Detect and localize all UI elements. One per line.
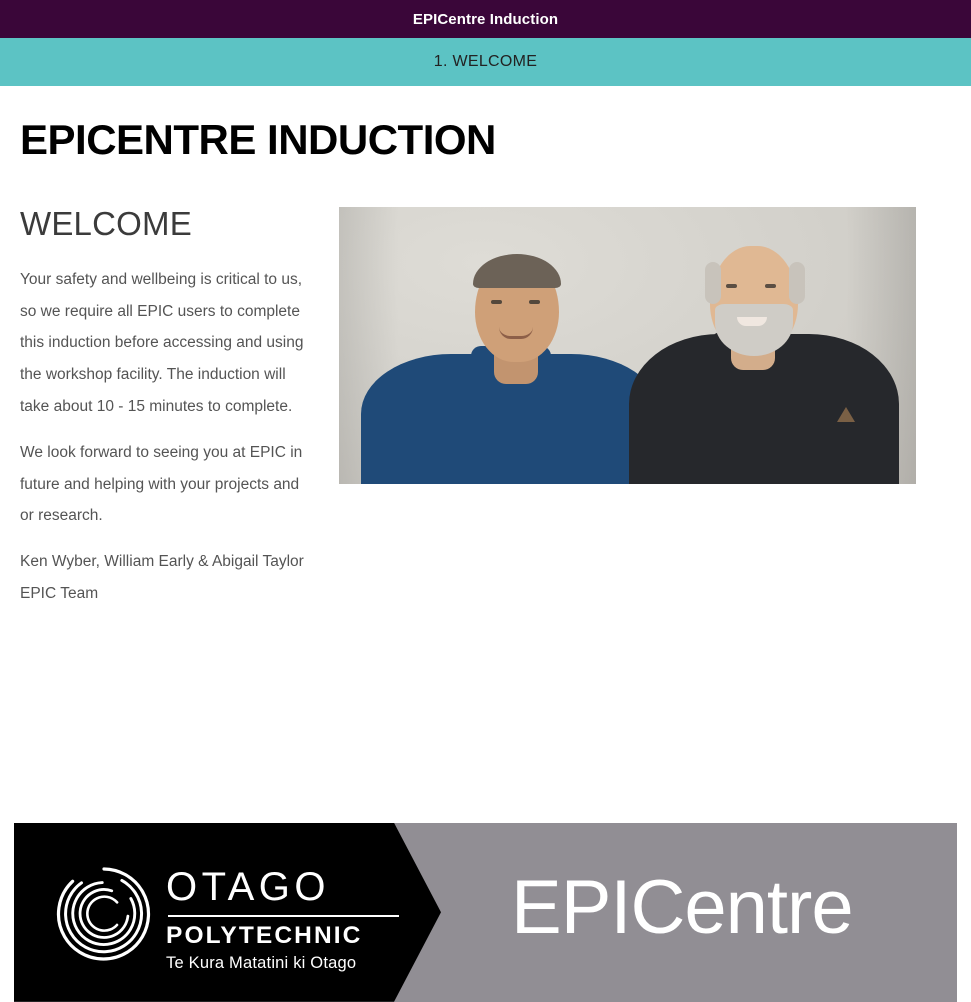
welcome-section: WELCOME Your safety and wellbeing is cri…: [19, 207, 952, 610]
welcome-photo-column: [329, 207, 952, 484]
otago-wordmark-rule: [168, 915, 399, 917]
otago-spiral-icon: [54, 864, 154, 964]
photo-person-2-hair-left: [705, 262, 721, 304]
photo-person-1-eye-right: [529, 300, 540, 304]
brand-banner: OTAGO POLYTECHNIC Te Kura Matatini ki Ot…: [14, 823, 957, 1002]
photo-person-1-eye-left: [491, 300, 502, 304]
app-title-bar: EPICentre Induction: [0, 0, 971, 38]
section-title: 1. WELCOME: [434, 53, 537, 71]
signature-team: EPIC Team: [20, 585, 98, 602]
signature-names: Ken Wyber, William Early & Abigail Taylo…: [20, 553, 304, 570]
otago-wordmark-maori: Te Kura Matatini ki Otago: [166, 955, 406, 972]
page-content: EPICENTRE INDUCTION WELCOME Your safety …: [0, 117, 971, 610]
section-bar: 1. WELCOME: [0, 38, 971, 86]
photo-person-2-eye-left: [726, 284, 737, 288]
otago-wordmark: OTAGO POLYTECHNIC Te Kura Matatini ki Ot…: [166, 867, 406, 972]
app-title: EPICentre Induction: [413, 11, 558, 28]
page-title: EPICENTRE INDUCTION: [20, 117, 952, 163]
welcome-paragraph-1: Your safety and wellbeing is critical to…: [20, 264, 317, 423]
welcome-signature: Ken Wyber, William Early & Abigail Taylo…: [20, 546, 317, 610]
otago-wordmark-secondary: POLYTECHNIC: [166, 924, 406, 949]
photo-person-2-hair-right: [789, 262, 805, 304]
welcome-heading: WELCOME: [20, 207, 317, 242]
photo-person-2-eye-right: [765, 284, 776, 288]
team-photo: [339, 207, 916, 484]
photo-person-2-shirt-logo: [837, 407, 855, 422]
epicentre-wordmark: EPICentre: [511, 870, 853, 946]
welcome-text-column: WELCOME Your safety and wellbeing is cri…: [19, 207, 329, 610]
welcome-paragraph-2: We look forward to seeing you at EPIC in…: [20, 437, 317, 532]
otago-wordmark-primary: OTAGO: [166, 867, 406, 907]
